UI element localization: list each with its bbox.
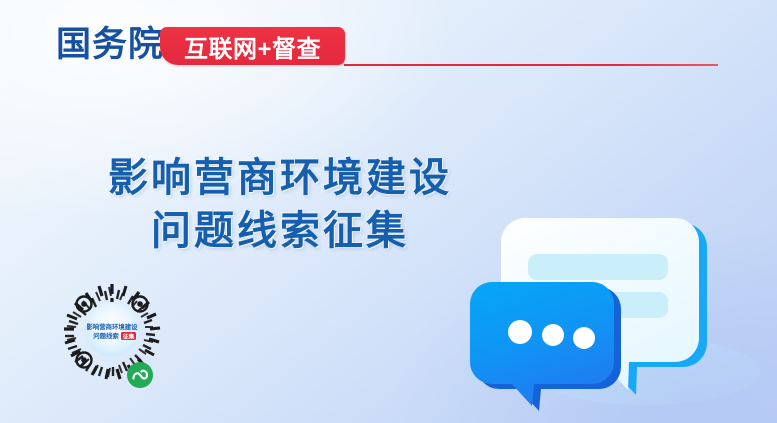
- illustration-graphic: [470, 196, 760, 421]
- campaign-badge-label: 互联网+督查: [160, 27, 345, 65]
- speech-bubbles-illustration: [470, 196, 760, 421]
- miniprogram-qr-code[interactable]: 影响营商环境建设 问题线索 征集: [56, 276, 168, 392]
- campaign-badge: 互联网+督查: [160, 27, 345, 65]
- back-bubble-line-1: [528, 254, 668, 280]
- typing-dot: [542, 324, 564, 346]
- qr-center-line-2: 问题线索: [93, 331, 119, 340]
- government-name: 国务院: [56, 24, 164, 66]
- typing-dot: [508, 320, 532, 344]
- header-divider-rule: [344, 64, 718, 66]
- campaign-banner: 国务院 互联网+督查 影响营商环境建设 问题线索征集: [0, 0, 777, 423]
- qr-code-graphic: 影响营商环境建设 问题线索 征集: [56, 276, 168, 392]
- banner-header: 国务院 互联网+督查: [0, 0, 777, 92]
- typing-dot: [573, 327, 595, 349]
- qr-center-tag: 征集: [123, 332, 135, 340]
- wechat-miniprogram-icon: [127, 362, 153, 388]
- qr-center-line-1: 影响营商环境建设: [86, 322, 138, 331]
